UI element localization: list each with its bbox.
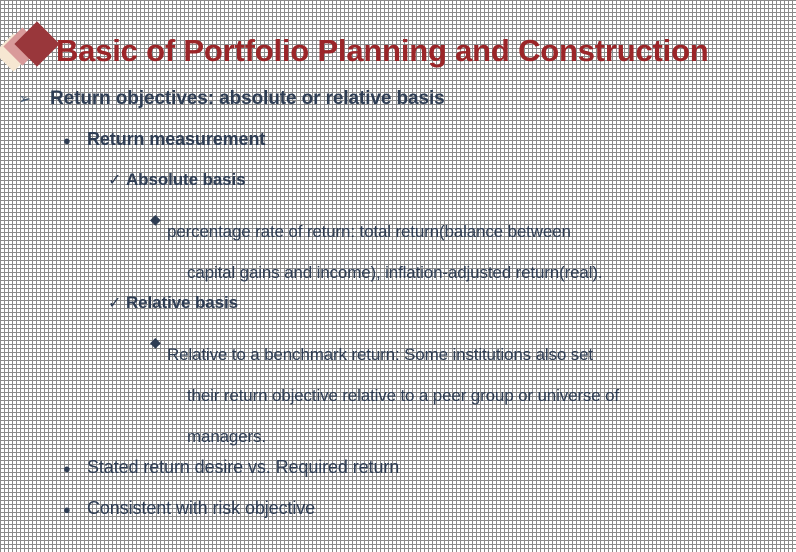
bullet-item-level4: ◆ percentage rate of return: total retur…	[0, 211, 796, 293]
arrow-bullet-icon: ➢	[18, 92, 50, 108]
bullet-item-level2: ● Return measurement	[0, 129, 796, 170]
check-bullet-icon: ✓	[108, 173, 126, 189]
bullet-text-line: capital gains and income), inflation-adj…	[167, 252, 774, 293]
bullet-text: Consistent with risk objective	[87, 498, 796, 519]
bullet-item-level3: ✓ Absolute basis	[0, 170, 796, 211]
bullet-item-level3: ✓ Relative basis	[0, 293, 796, 334]
bullet-item-level2: ● Consistent with risk objective	[0, 498, 796, 539]
diamond-bullet-icon: ◆	[150, 335, 167, 349]
bullet-text: Stated return desire vs. Required return	[87, 457, 796, 478]
bullet-text: Return measurement	[87, 129, 796, 150]
bullet-text: Absolute basis	[126, 170, 796, 190]
diamond-bullet-icon: ◆	[150, 212, 167, 226]
bullet-text-line: Relative to a benchmark return: Some ins…	[167, 345, 593, 364]
slide-canvas: Basic of Portfolio Planning and Construc…	[0, 0, 796, 552]
bullet-item-level4: ◆ Relative to a benchmark return: Some i…	[0, 334, 796, 457]
bullet-item-level2: ● Stated return desire vs. Required retu…	[0, 457, 796, 498]
page-title: Basic of Portfolio Planning and Construc…	[56, 34, 709, 68]
bullet-text-line: managers.	[167, 416, 774, 457]
bullet-text: Relative basis	[126, 293, 796, 313]
slide-title-row: Basic of Portfolio Planning and Construc…	[0, 22, 796, 80]
bullet-text-line: their return objective relative to a pee…	[167, 375, 774, 416]
bullet-paragraph: percentage rate of return: total return(…	[167, 211, 774, 293]
bullet-paragraph: Relative to a benchmark return: Some ins…	[167, 334, 774, 457]
disc-bullet-icon: ●	[63, 503, 87, 516]
check-bullet-icon: ✓	[108, 296, 126, 312]
disc-bullet-icon: ●	[63, 134, 87, 147]
bullet-item-level1: ➢ Return objectives: absolute or relativ…	[0, 88, 796, 129]
bullet-text-line: percentage rate of return: total return(…	[167, 222, 571, 241]
bullet-text: Return objectives: absolute or relative …	[50, 88, 796, 110]
diamond-logo-icon	[0, 27, 52, 75]
disc-bullet-icon: ●	[63, 462, 87, 475]
slide-body: ➢ Return objectives: absolute or relativ…	[0, 88, 796, 539]
